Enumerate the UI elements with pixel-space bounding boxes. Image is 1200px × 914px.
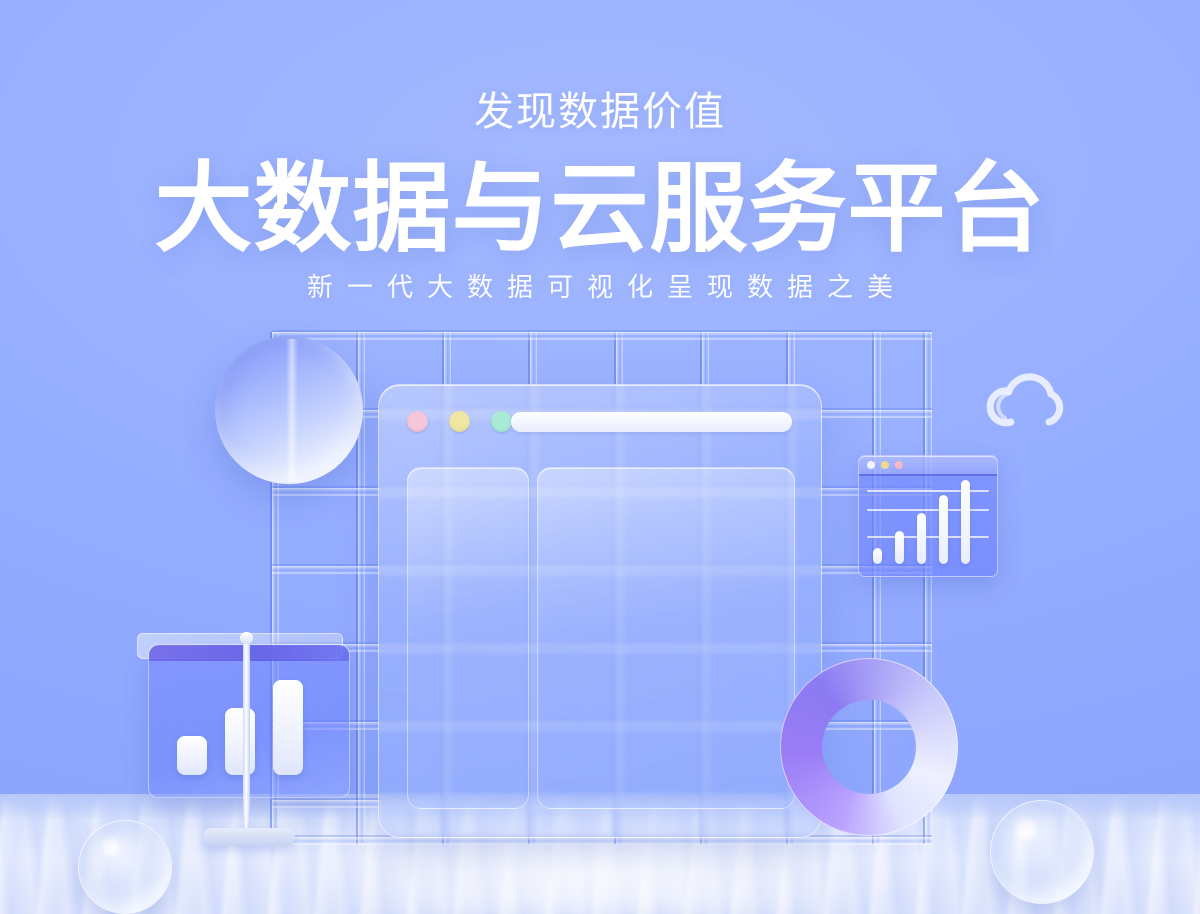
card-bar-2 [225,708,255,775]
widget-gridline-2 [867,490,989,492]
chart-stand-base [203,828,295,846]
widget-dot-2[interactable] [881,461,889,469]
widget-title-bar [859,456,997,476]
chart-stand-cap [240,632,253,644]
widget-bar-3 [917,513,926,564]
sidebar-pane [407,467,529,809]
widget-dot-3[interactable] [895,461,903,469]
widget-gridline-1 [867,509,989,511]
minimize-dot[interactable] [449,411,470,432]
glass-sphere-left [78,820,172,914]
glass-sphere-right [990,800,1094,904]
hero-banner: 发现数据价值 大数据与云服务平台 新一代大数据可视化呈现数据之美 [0,0,1200,914]
content-pane [537,467,795,809]
grid-bar-horizontal-0 [272,332,932,339]
address-bar-input[interactable] [511,412,792,432]
widget-bar-4 [939,495,948,564]
widget-bar-5 [961,480,970,564]
widget-bar-2 [895,531,904,564]
card-bar-3 [273,680,303,775]
card-bar-1 [177,736,207,775]
widget-dot-1[interactable] [867,461,875,469]
hero-text: 发现数据价值 大数据与云服务平台 新一代大数据可视化呈现数据之美 [0,0,1200,300]
maximize-dot[interactable] [491,411,512,432]
gradient-torus [780,658,958,836]
widget-bar-1 [873,548,882,564]
chart-stand-pole [243,638,250,838]
grid-bar-horizontal-7 [272,837,932,844]
hero-tagline: 新一代大数据可视化呈现数据之美 [0,274,1200,300]
widget-gridline-0 [867,536,989,538]
mini-chart-widget[interactable] [858,455,998,577]
browser-mockup[interactable] [378,384,822,838]
close-dot[interactable] [407,411,428,432]
browser-title-bar [379,385,821,451]
hero-eyebrow: 发现数据价值 [0,92,1200,132]
cloud-icon [975,360,1071,432]
page-title: 大数据与云服务平台 [0,158,1200,260]
glass-disc [215,336,363,484]
